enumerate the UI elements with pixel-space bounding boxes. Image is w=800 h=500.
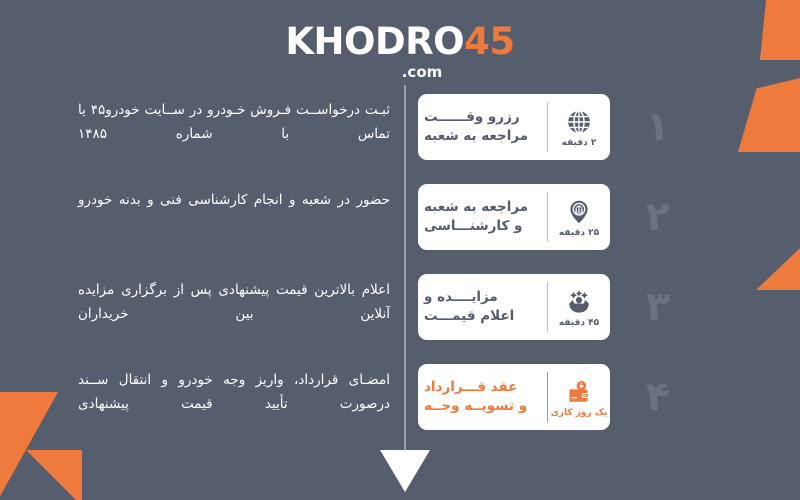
step-duration: ۲۵ دقیقه (559, 228, 599, 238)
step-description: ثبـت درخواســت فـروش خـودرو در ســایت خو… (78, 98, 390, 146)
step-number: ۴ (616, 364, 670, 430)
step-row: حضور در شعبه و انجام کارشناسی فنی و بدنه… (0, 176, 800, 266)
step-row: ثبـت درخواســت فـروش خـودرو در ســایت خو… (0, 86, 800, 176)
globe-icon (566, 109, 592, 135)
step-title-line1: مزایــــده و (424, 288, 498, 307)
timeline-arrow-icon (380, 450, 430, 492)
step-icon-box: ۴۵ دقیقه (548, 274, 610, 340)
step-card[interactable]: عقد قـــرارداد و تسویــه وجــه یک روز کا… (418, 364, 610, 430)
step-number: ۱ (616, 94, 670, 160)
step-duration: ۴۵ دقیقه (559, 318, 599, 328)
logo-khodro-text: KHODRO (285, 20, 464, 63)
step-card-title: عقد قـــرارداد و تسویــه وجــه (418, 364, 547, 430)
card-divider (547, 282, 548, 332)
step-description: اعلام بالاترین قیمت پیشنهادی پس از برگزا… (78, 278, 390, 326)
step-card-title: مزایــــده و اعلام قیمـــت (418, 274, 547, 340)
decorative-shape-bottom-left-2 (26, 450, 82, 500)
step-icon-box: ۲ دقیقه (548, 94, 610, 160)
map-pin-bank-icon (566, 199, 592, 225)
brand-logo: KHODRO45 .com (0, 22, 800, 81)
steps-list: ثبـت درخواســت فـروش خـودرو در ســایت خو… (0, 86, 800, 446)
step-title-line2: اعلام قیمـــت (424, 307, 514, 326)
auction-gavel-icon (566, 289, 592, 315)
step-row: امضـای قرارداد، واریز وجه خودرو و انتقال… (0, 356, 800, 446)
logo-tld-text: .com (0, 63, 792, 81)
step-card-title: رزرو وقــــــت مراجعه به شعبه (418, 94, 547, 160)
step-card[interactable]: مزایــــده و اعلام قیمـــت ۴۵ دقیقه (418, 274, 610, 340)
step-description: حضور در شعبه و انجام کارشناسی فنی و بدنه… (78, 188, 390, 212)
wallet-deposit-icon (566, 379, 592, 405)
logo-45-text: 45 (464, 20, 515, 63)
step-title-line2: مراجعه به شعبه (424, 127, 528, 146)
step-card[interactable]: رزرو وقــــــت مراجعه به شعبه ۲ دقیقه (418, 94, 610, 160)
logo-wordmark: KHODRO45 (0, 22, 800, 62)
step-icon-box: ۲۵ دقیقه (548, 184, 610, 250)
infographic-canvas: KHODRO45 .com ثبـت درخواســت فـروش خـودر… (0, 0, 800, 500)
step-title-line2: و کارشنـــاسی (424, 217, 522, 236)
step-icon-box: یک روز کاری (548, 364, 610, 430)
card-divider (547, 192, 548, 242)
step-number: ۲ (616, 184, 670, 250)
step-row: اعلام بالاترین قیمت پیشنهادی پس از برگزا… (0, 266, 800, 356)
step-title-line1: رزرو وقــــــت (424, 108, 520, 127)
step-card[interactable]: مراجعه به شعبه و کارشنـــاسی ۲۵ دقیقه (418, 184, 610, 250)
card-divider (547, 372, 548, 422)
step-title-line1: عقد قـــرارداد (424, 378, 517, 397)
step-description: امضـای قرارداد، واریز وجه خودرو و انتقال… (78, 368, 390, 416)
step-title-line2: و تسویــه وجــه (424, 397, 527, 416)
step-number: ۳ (616, 274, 670, 340)
step-card-title: مراجعه به شعبه و کارشنـــاسی (418, 184, 547, 250)
step-title-line1: مراجعه به شعبه (424, 198, 528, 217)
card-divider (547, 102, 548, 152)
step-duration: یک روز کاری (551, 408, 608, 418)
step-duration: ۲ دقیقه (562, 138, 597, 148)
